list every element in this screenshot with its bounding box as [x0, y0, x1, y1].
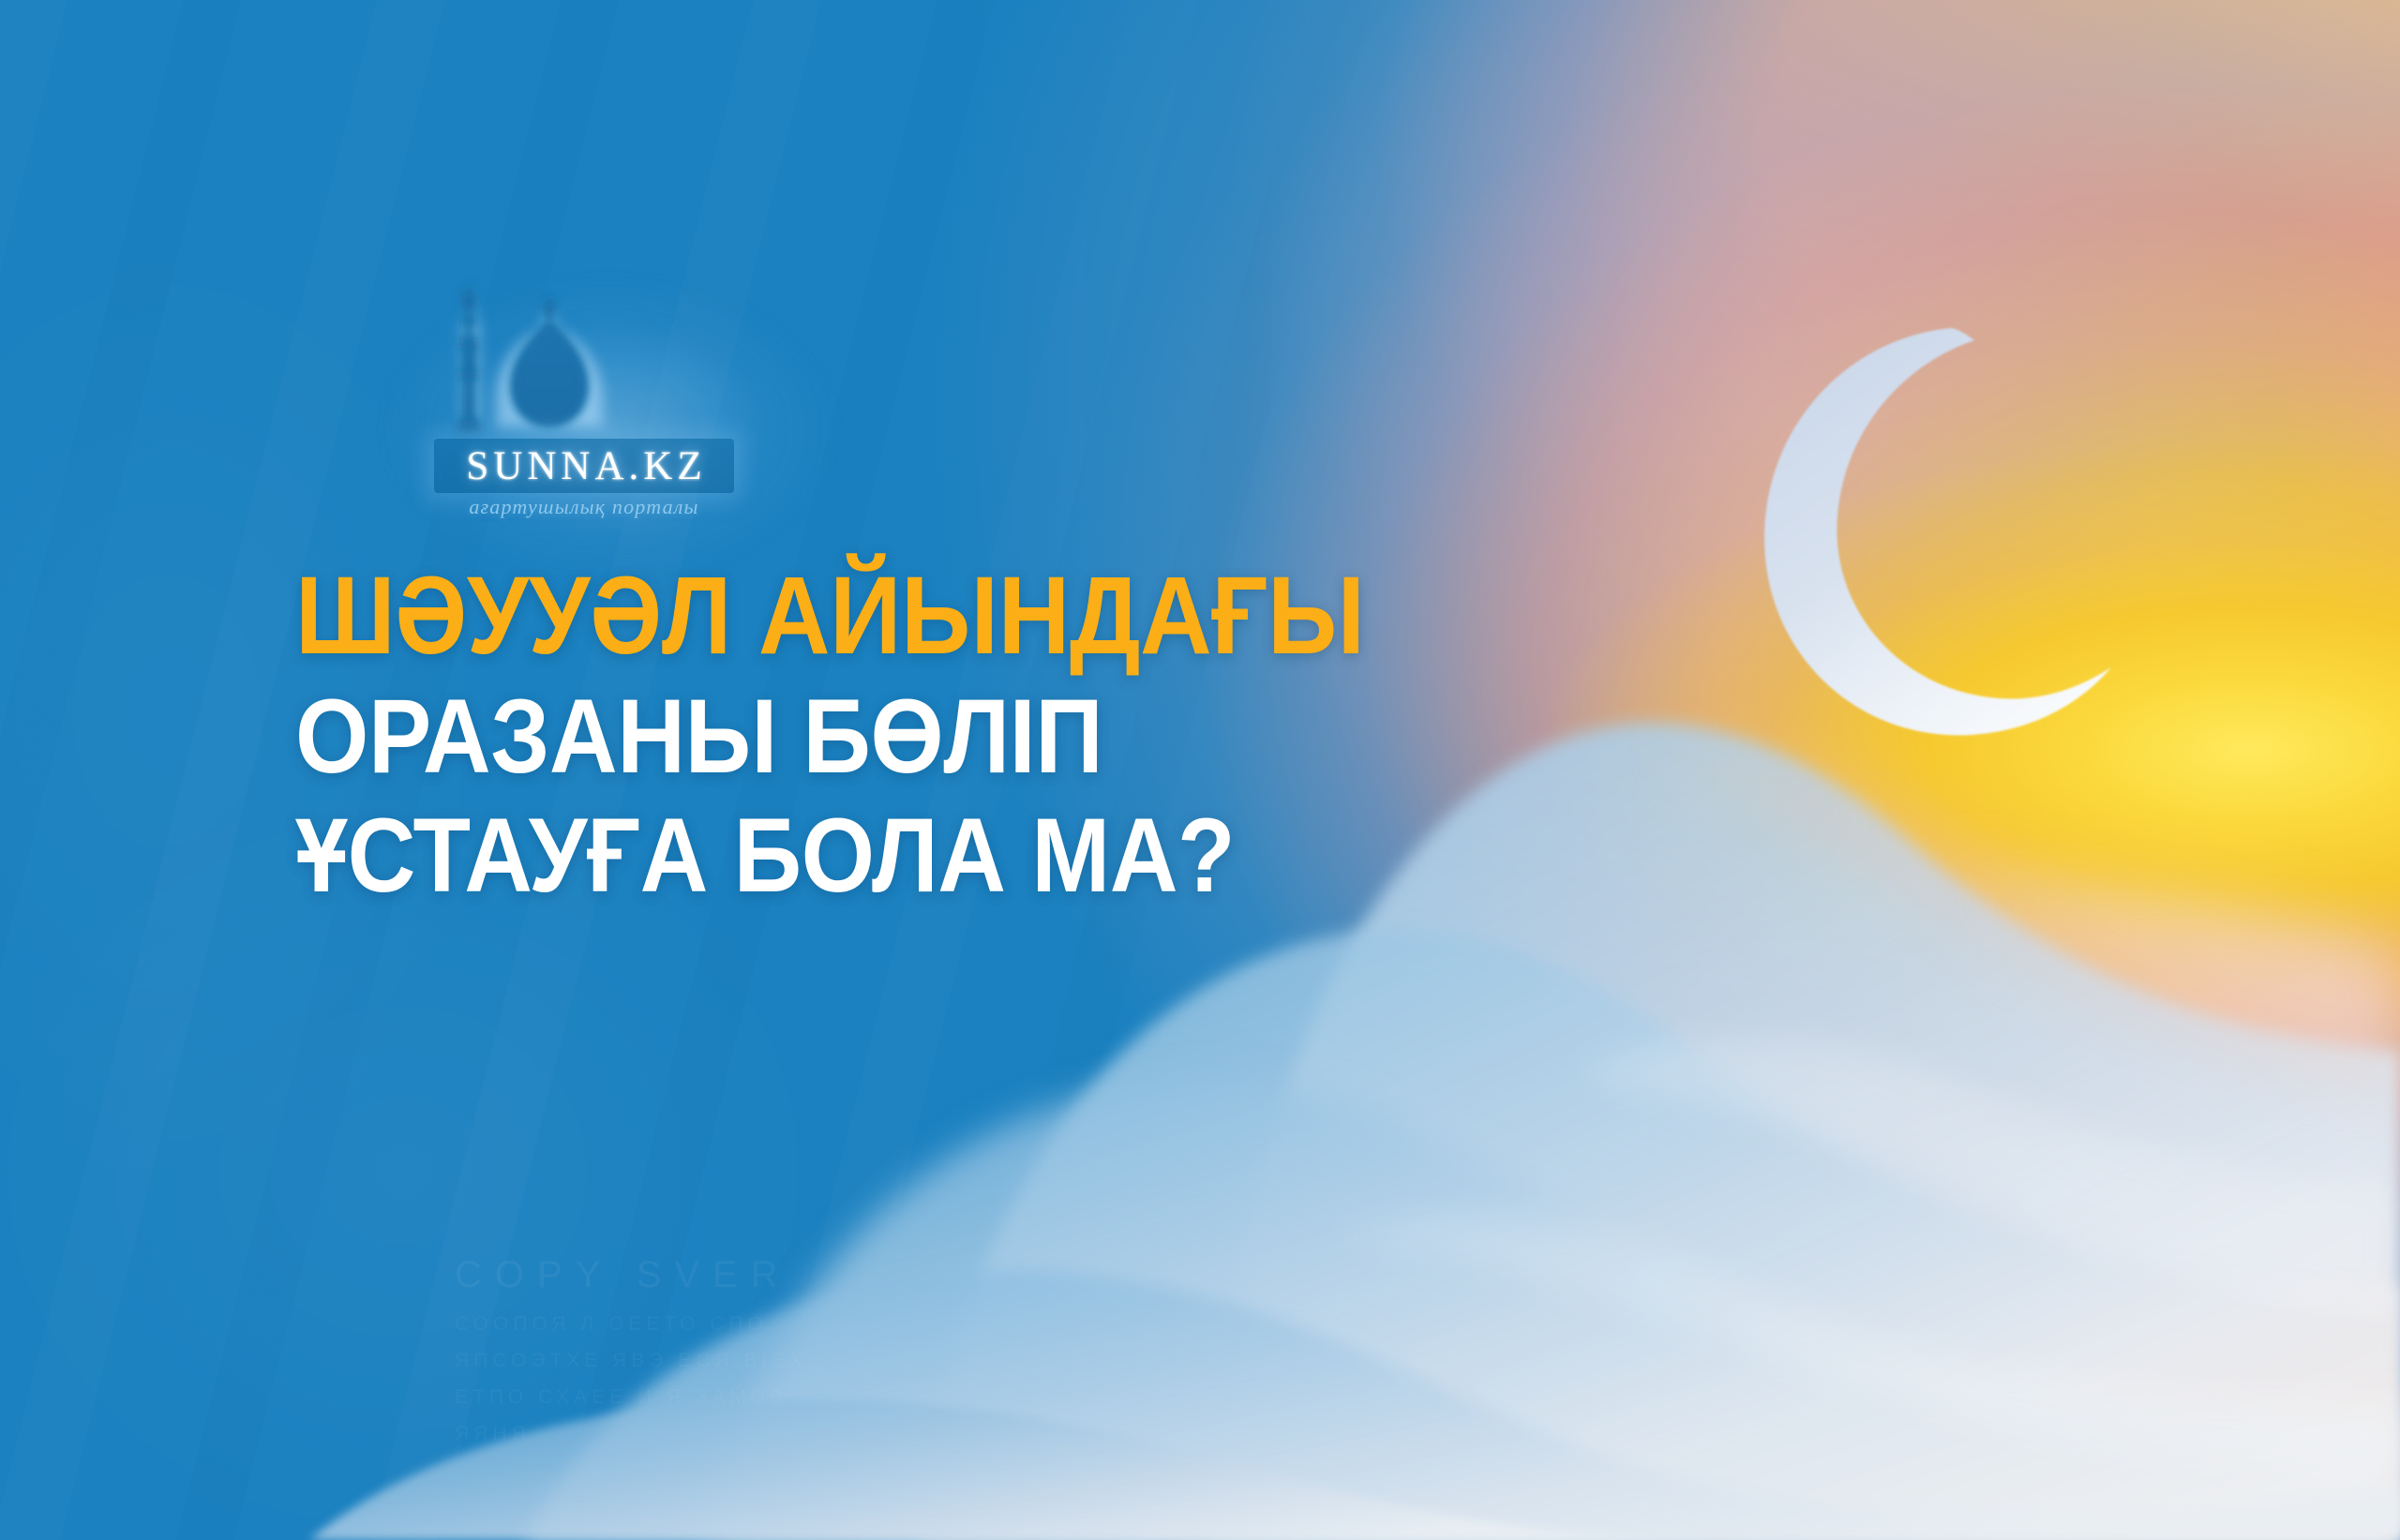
watermark-block: COPY SVER СООПОЯ Л ОЕЕТО СПО ЯПСОЭТХЕ ЯВ… [455, 1254, 942, 1452]
site-logo[interactable]: SUNNA.KZ ағартушылық порталы [427, 281, 783, 534]
headline-line-1: ШӘУУӘЛ АЙЫНДАҒЫ [295, 562, 1426, 669]
crescent-moon-icon [1706, 309, 2137, 740]
watermark-line-1: СООПОЯ Л ОЕЕТО СПО [455, 1307, 942, 1343]
watermark-line-3: ЕТПО СХАЕЕ И Я ЗАМDВ [455, 1380, 942, 1416]
headline-block: ШӘУУӘЛ АЙЫНДАҒЫ ОРАЗАНЫ БӨЛІП ҰСТАУҒА БО… [295, 562, 1552, 924]
logo-tagline: ағартушылық порталы [434, 495, 734, 519]
banner-root: SUNNA.KZ ағартушылық порталы ШӘУУӘЛ АЙЫН… [0, 0, 2400, 1540]
mosque-minaret-dome-icon [427, 281, 670, 459]
watermark-title: COPY SVER [455, 1254, 942, 1295]
watermark-line-4: ЯЯНЯ [455, 1416, 942, 1453]
logo-wordmark-text: SUNNA.KZ [461, 446, 706, 486]
logo-wordmark-bar: SUNNA.KZ [434, 439, 734, 493]
headline-line-3: ҰСТАУҒА БОЛА МА? [295, 805, 1426, 907]
headline-line-2: ОРАЗАНЫ БӨЛІП [295, 686, 1426, 788]
watermark-line-2: ЯПСОЭТХЕ ЯВЭ ЕСЯ ВIЕX [455, 1343, 942, 1380]
